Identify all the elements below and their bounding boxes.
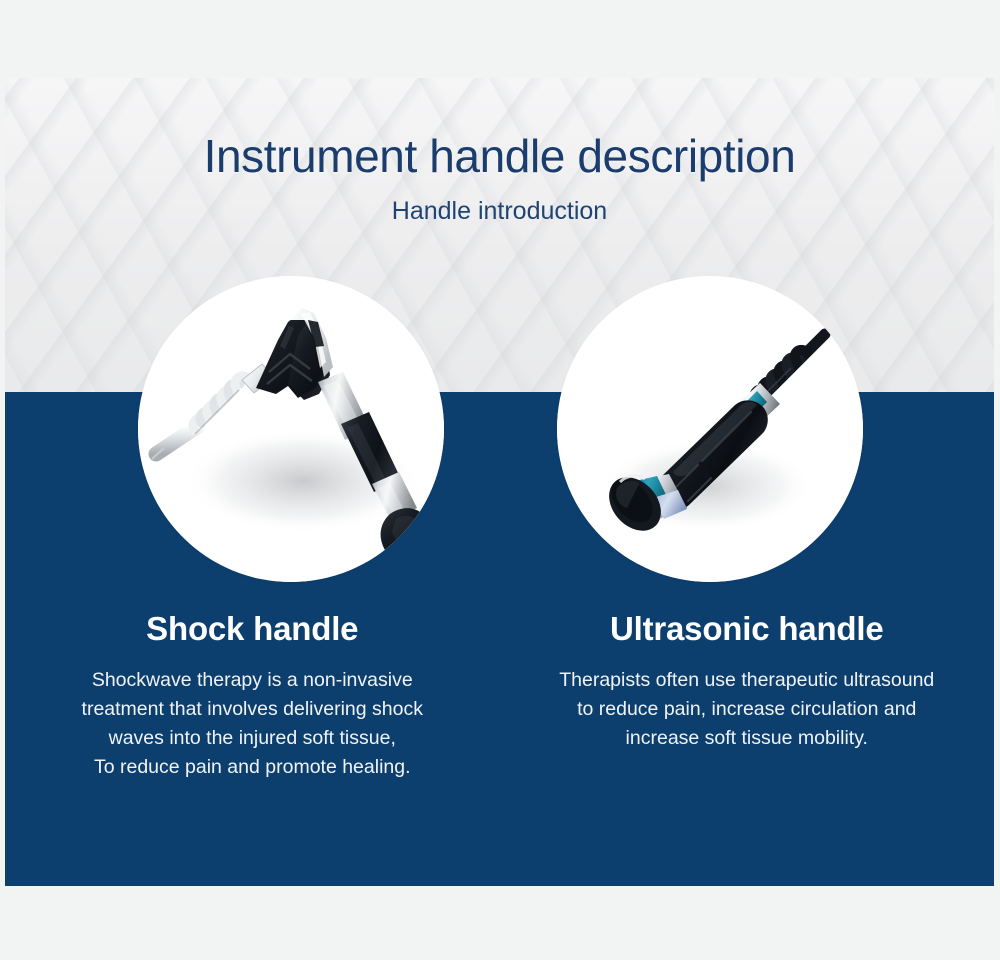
description-line: Therapists often use therapeutic ultraso… (512, 666, 982, 695)
description-line: treatment that involves delivering shock (37, 695, 467, 724)
page-subtitle: Handle introduction (5, 198, 994, 226)
description-line: Shockwave therapy is a non-invasive (37, 666, 467, 695)
product-infographic: Instrument handle description Handle int… (0, 0, 1000, 960)
description-line: To reduce pain and promote healing. (37, 753, 467, 782)
shock-handle-heading: Shock handle (17, 610, 488, 648)
content-panel: Instrument handle description Handle int… (5, 78, 994, 886)
page-title: Instrument handle description (5, 132, 994, 180)
shock-handle-description: Shockwave therapy is a non-invasive trea… (37, 666, 467, 781)
shock-handle-image-circle (138, 276, 444, 582)
ultrasonic-handle-description: Therapists often use therapeutic ultraso… (512, 666, 982, 753)
handle-description-columns: Shock handle Shockwave therapy is a non-… (5, 610, 994, 781)
header-block: Instrument handle description Handle int… (5, 132, 994, 226)
column-ultrasonic-handle: Ultrasonic handle Therapists often use t… (500, 610, 995, 781)
column-shock-handle: Shock handle Shockwave therapy is a non-… (5, 610, 500, 781)
ultrasonic-handle-heading: Ultrasonic handle (512, 610, 983, 648)
shock-handle-photo (138, 276, 444, 582)
ultrasonic-handle-photo (557, 276, 863, 582)
description-line: increase soft tissue mobility. (512, 724, 982, 753)
description-line: waves into the injured soft tissue, (37, 724, 467, 753)
description-line: to reduce pain, increase circulation and (512, 695, 982, 724)
ultrasonic-handle-image-circle (557, 276, 863, 582)
